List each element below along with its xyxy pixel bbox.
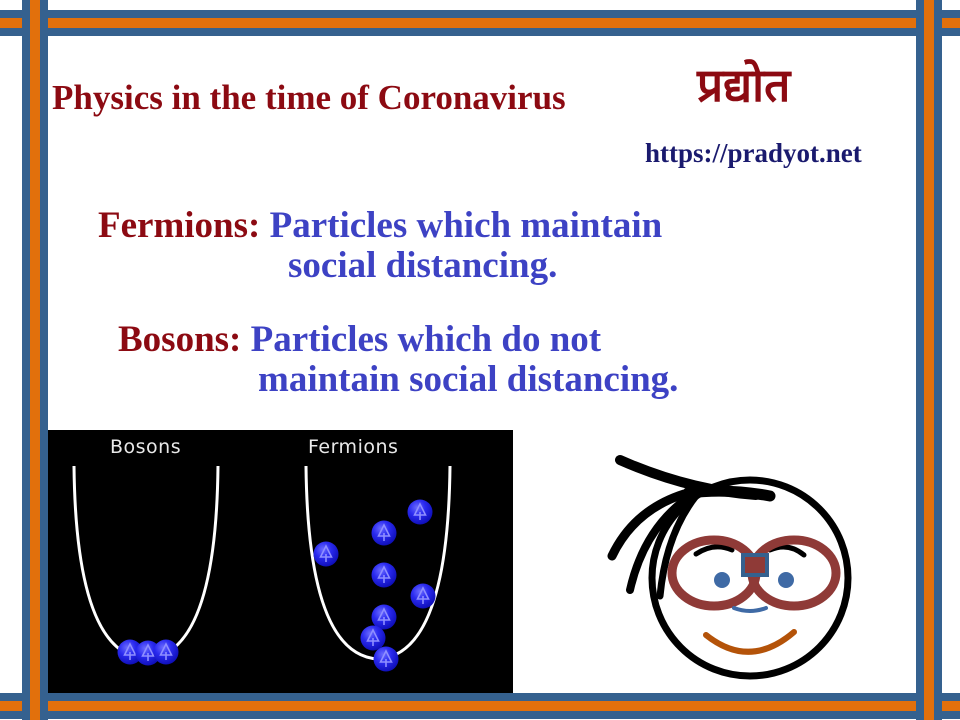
particle — [374, 647, 399, 672]
cartoon-face-avatar — [598, 438, 866, 693]
brand-name-devanagari: प्रद्योत — [697, 62, 790, 108]
bosons-well-group — [74, 466, 218, 666]
bosons-energy-levels — [76, 470, 216, 638]
fermions-well-group — [306, 466, 450, 672]
particle — [361, 626, 386, 651]
definition-text-bosons-line1: Particles which do not — [241, 319, 601, 360]
figure-label-fermions: Fermions — [308, 436, 398, 458]
definition-text-fermions-line2: social distancing. — [288, 245, 557, 286]
frame-bar-left — [22, 0, 48, 720]
particle — [372, 521, 397, 546]
potential-well-svg — [36, 430, 513, 693]
figure-label-bosons: Bosons — [110, 436, 181, 458]
definition-term-bosons: Bosons: — [118, 319, 241, 360]
fermions-particles — [314, 500, 436, 672]
bosons-particles — [118, 640, 179, 666]
brand-website-url[interactable]: https://pradyot.net — [645, 138, 862, 169]
particle — [411, 584, 436, 609]
definition-bosons: Bosons: Particles which do not maintain … — [0, 320, 900, 400]
definition-term-fermions: Fermions: — [98, 205, 260, 246]
definition-text-fermions-line1: Particles which maintain — [260, 205, 662, 246]
particle — [314, 542, 339, 567]
frame-bar-bottom — [0, 693, 960, 719]
page-title: Physics in the time of Coronavirus — [52, 78, 566, 118]
bosons-parabola — [74, 466, 218, 659]
particle — [408, 500, 433, 525]
particle — [154, 640, 179, 665]
potential-well-figure: Bosons Fermions — [36, 430, 513, 693]
definition-text-bosons-line2: maintain social distancing. — [258, 359, 678, 400]
frame-bar-top — [0, 10, 960, 36]
frame-bar-right — [916, 0, 942, 720]
particle — [372, 563, 397, 588]
cartoon-face-svg — [598, 438, 866, 693]
definition-fermions: Fermions: Particles which maintain socia… — [0, 206, 900, 286]
slide-canvas: Physics in the time of Coronavirus प्रद्… — [0, 0, 960, 720]
